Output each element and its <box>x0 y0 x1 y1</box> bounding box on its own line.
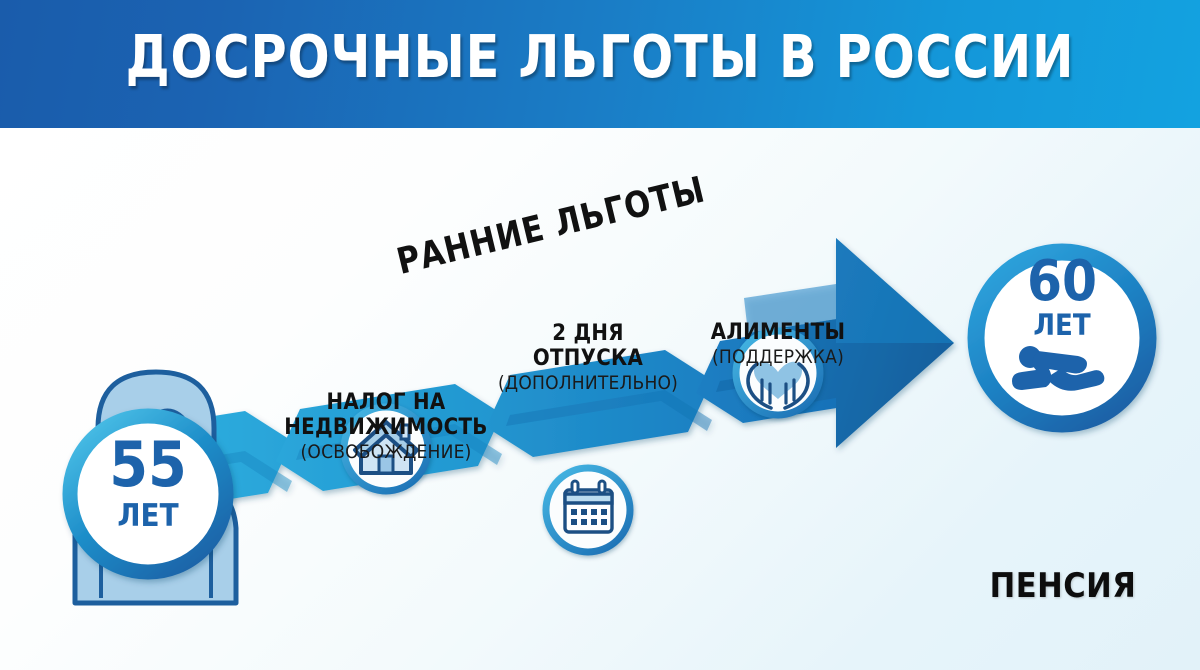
end-age-number: 60 <box>1027 249 1097 314</box>
calendar-icon <box>565 481 612 532</box>
step-label-note: (ПОДДЕРЖКА) <box>628 345 928 369</box>
step-label-line2: НЕДВИЖИМОСТЬ <box>236 415 536 440</box>
step-label-note: (ДОПОЛНИТЕЛЬНО) <box>438 371 738 395</box>
infographic-root: ДОСРОЧНЫЕ ЛЬГОТЫ В РОССИИ <box>0 0 1200 670</box>
page-title: ДОСРОЧНЫЕ ЛЬГОТЫ В РОССИИ <box>42 26 1158 88</box>
header-banner: ДОСРОЧНЫЕ ЛЬГОТЫ В РОССИИ <box>0 0 1200 128</box>
step-label-note: (ОСВОБОЖДЕНИЕ) <box>236 440 536 464</box>
start-age-unit: ЛЕТ <box>117 498 178 534</box>
end-age-unit: ЛЕТ <box>1033 308 1090 342</box>
start-age-number: 55 <box>109 428 187 501</box>
step-label-line1: АЛИМЕНТЫ <box>628 320 928 345</box>
step-badge-calendar <box>546 468 630 552</box>
end-label: ПЕНСИЯ <box>938 566 1188 606</box>
infographic-stage: 55 ЛЕТ <box>0 128 1200 670</box>
